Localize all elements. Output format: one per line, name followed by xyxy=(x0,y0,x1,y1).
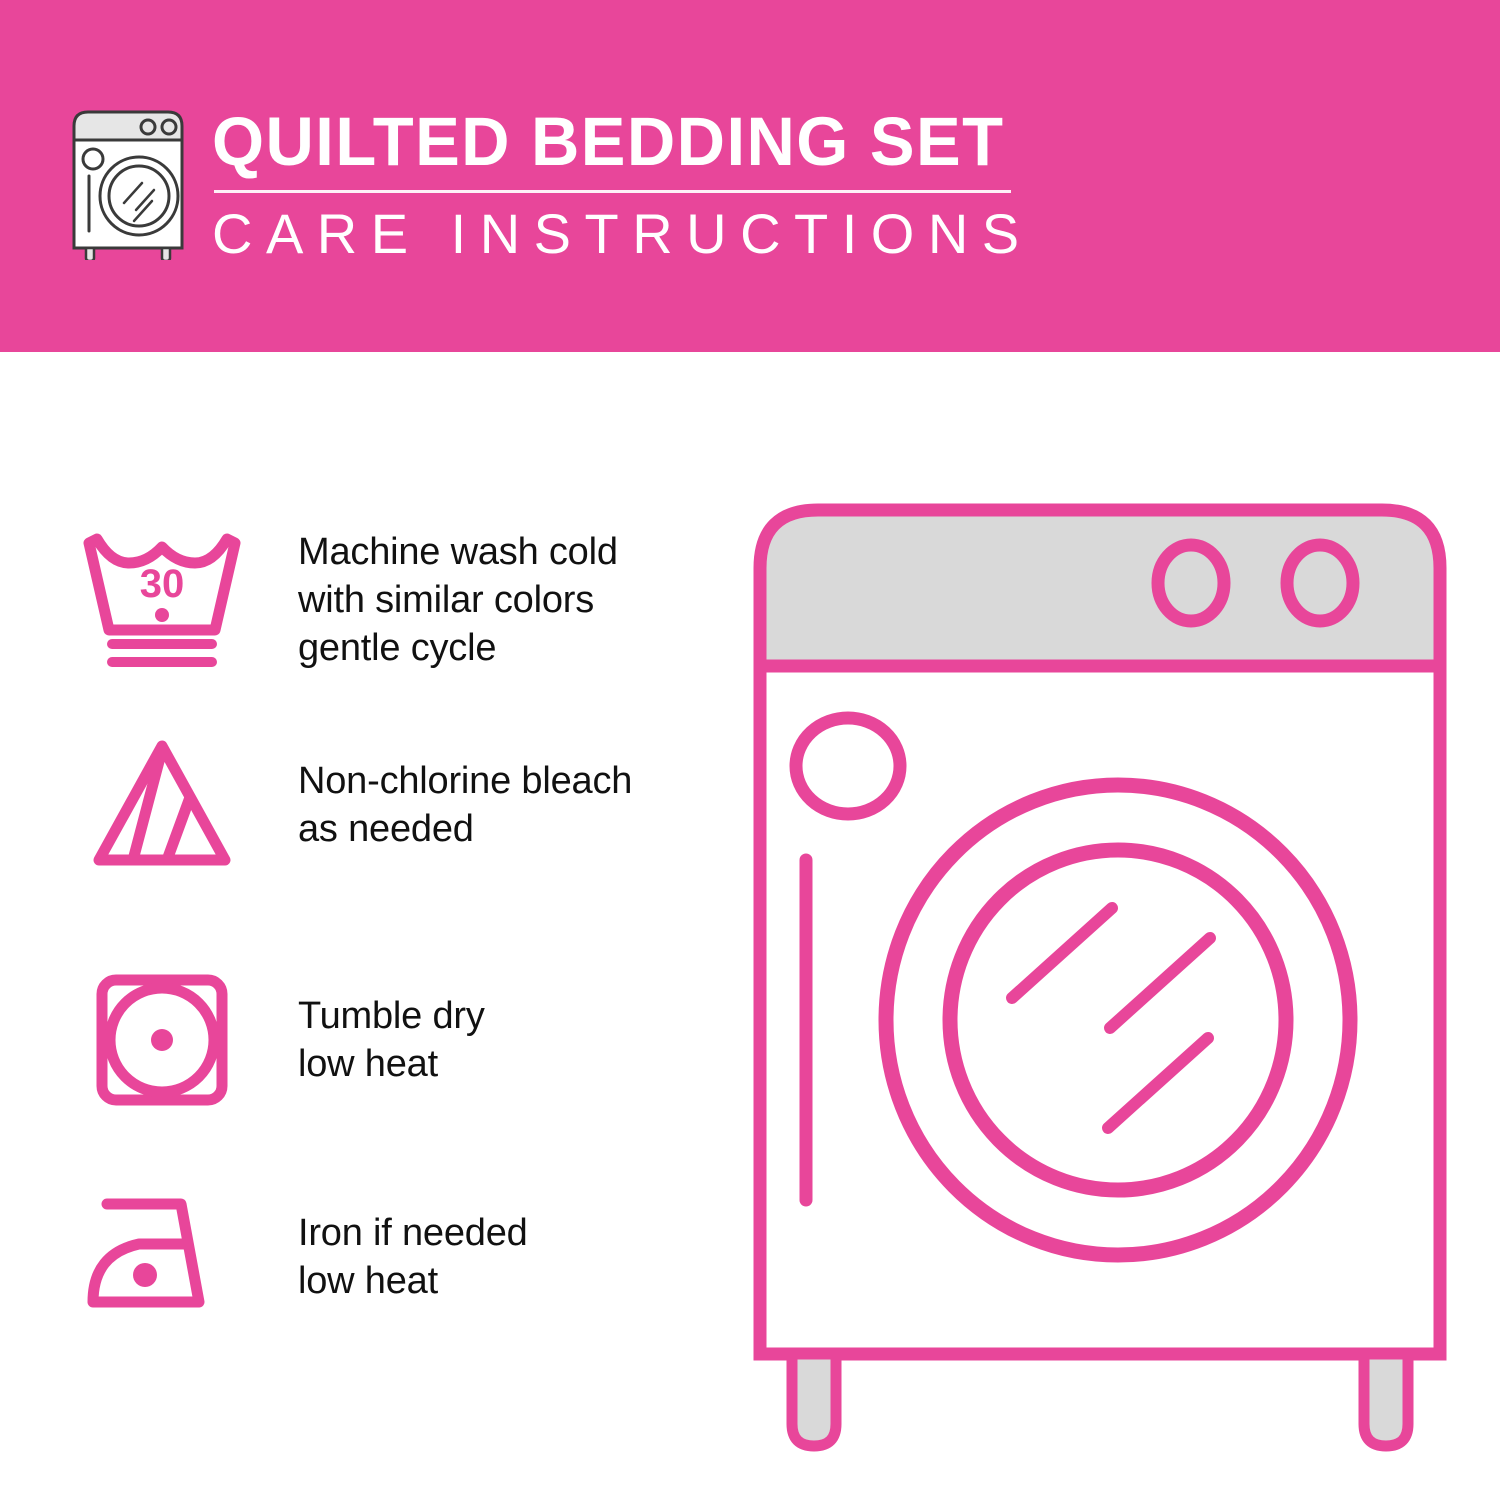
bleach-triangle-icon xyxy=(62,730,262,880)
tumble-dry-dot-icon xyxy=(151,1029,173,1051)
care-label-line: Non-chlorine bleach xyxy=(298,757,632,805)
care-row-bleach: Non-chlorine bleach as needed xyxy=(0,720,740,890)
care-label-line: Machine wash cold xyxy=(298,528,618,576)
header-banner: QUILTED BEDDING SET CARE INSTRUCTIONS xyxy=(0,0,1500,352)
knob-icon xyxy=(1158,545,1224,621)
wash-tub-30-icon: 30 xyxy=(62,525,262,675)
header-content: QUILTED BEDDING SET CARE INSTRUCTIONS xyxy=(62,100,1033,265)
machine-leg xyxy=(792,1354,836,1446)
wash-dot-icon xyxy=(155,608,169,622)
machine-leg xyxy=(1364,1354,1408,1446)
page-title: QUILTED BEDDING SET xyxy=(212,104,1008,180)
header-divider xyxy=(214,190,1011,193)
iron-low-heat-icon xyxy=(62,1182,262,1332)
care-label-tumble-dry: Tumble dry low heat xyxy=(298,992,485,1088)
care-label-line: gentle cycle xyxy=(298,624,618,672)
care-label-line: Tumble dry xyxy=(298,992,485,1040)
care-label-iron: Iron if needed low heat xyxy=(298,1209,528,1305)
care-row-iron: Iron if needed low heat xyxy=(0,1172,740,1342)
page-subtitle: CARE INSTRUCTIONS xyxy=(212,203,1033,265)
tumble-dry-low-icon xyxy=(62,965,262,1115)
wash-temperature-value: 30 xyxy=(140,562,185,606)
care-label-bleach: Non-chlorine bleach as needed xyxy=(298,757,632,853)
care-row-machine-wash: 30 Machine wash cold with similar colors… xyxy=(0,510,740,690)
care-label-line: low heat xyxy=(298,1040,485,1088)
care-label-machine-wash: Machine wash cold with similar colors ge… xyxy=(298,528,618,672)
iron-dot-icon xyxy=(133,1263,157,1287)
indicator-circle xyxy=(796,718,900,814)
knob-icon xyxy=(1287,545,1353,621)
header-text-block: QUILTED BEDDING SET CARE INSTRUCTIONS xyxy=(212,100,1033,265)
care-label-line: as needed xyxy=(298,805,632,853)
washing-machine-illustration xyxy=(730,480,1470,1460)
care-label-line: Iron if needed xyxy=(298,1209,528,1257)
care-row-tumble-dry: Tumble dry low heat xyxy=(0,950,740,1130)
washing-machine-icon xyxy=(62,100,194,260)
care-instruction-list: 30 Machine wash cold with similar colors… xyxy=(0,352,740,1500)
care-label-line: low heat xyxy=(298,1257,528,1305)
care-label-line: with similar colors xyxy=(298,576,618,624)
